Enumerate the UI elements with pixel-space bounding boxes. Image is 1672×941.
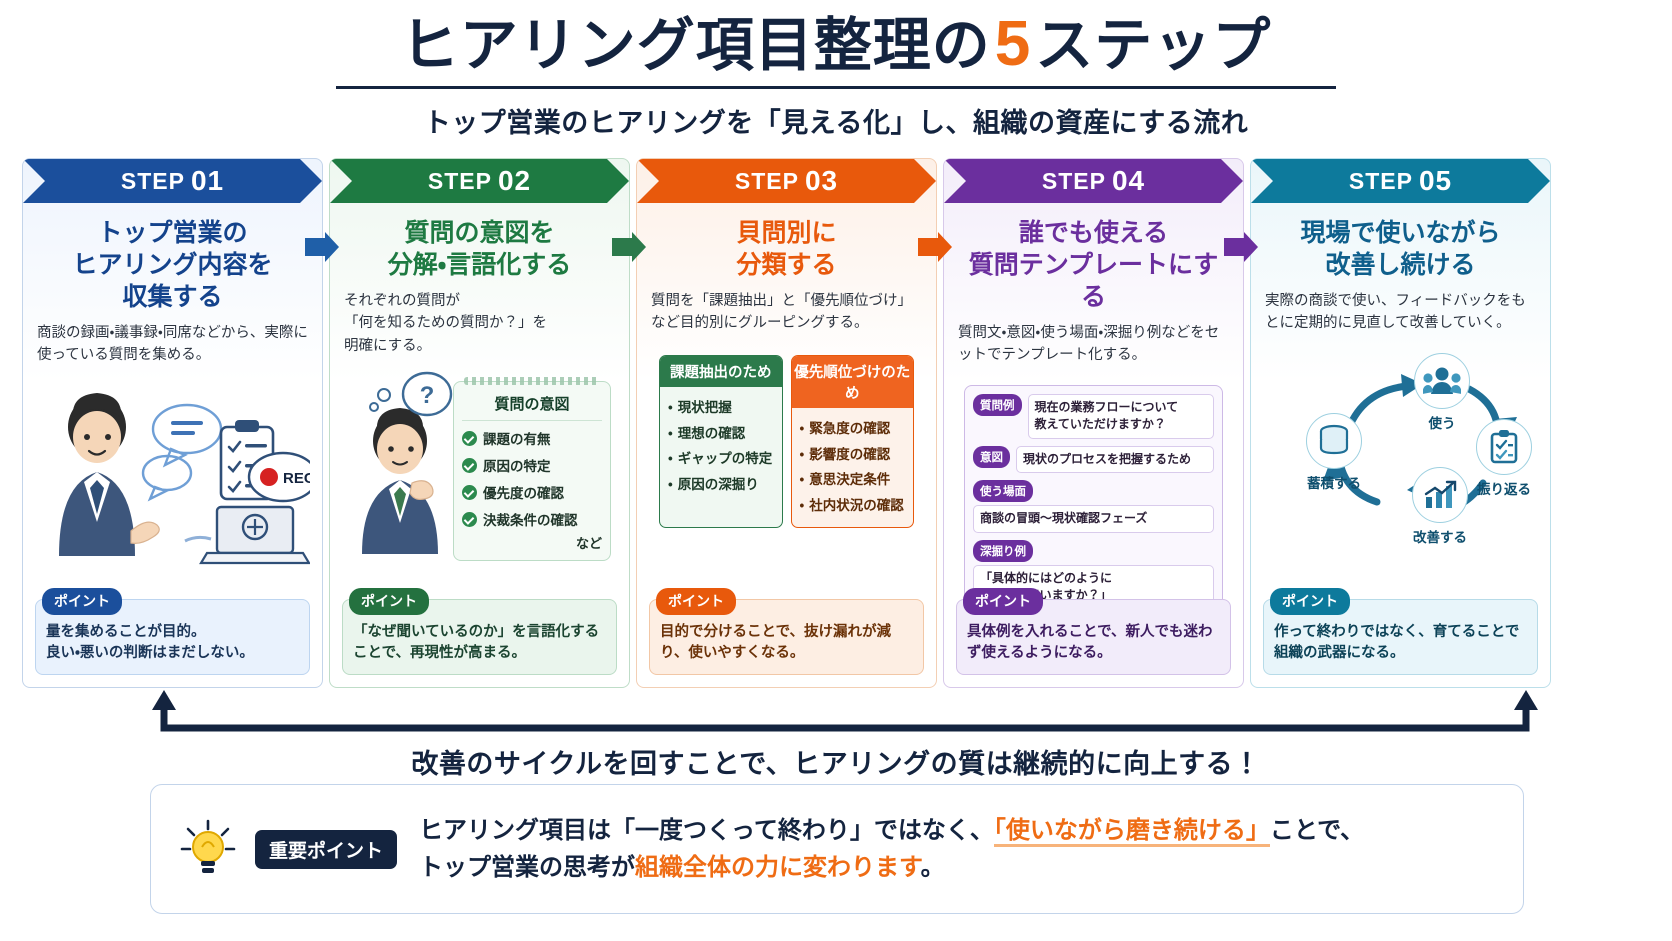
note-line2-highlight: 組織全体の力に変わります <box>635 854 921 881</box>
step-illustration-03: 課題抽出のため •現状把握 •理想の確認 •ギャップの特定 •原因の深掘り 優先… <box>651 341 922 599</box>
template-value: 現在の業務フローについて 教えていただけますか？ <box>1028 394 1215 439</box>
title-number: 5 <box>991 7 1036 79</box>
clipboard-check-icon <box>1476 419 1532 475</box>
group-item-label: ギャップの特定 <box>678 446 773 472</box>
step-card-05[interactable]: STEP05 現場で使いながら 改善し続ける 実際の商談で使い、フィードバックを… <box>1250 158 1551 688</box>
step-desc-02: それぞれの質問が 「何を知るための質問か？」を 明確にする。 <box>344 290 615 357</box>
checklist-item: 課題の有無 <box>462 428 602 448</box>
step-title-01: トップ営業の ヒアリング内容を 収集する <box>37 217 308 313</box>
ribbon-number: 02 <box>498 165 531 197</box>
step-ribbon-01: STEP01 <box>23 159 322 203</box>
checklist-label: 原因の特定 <box>483 455 551 475</box>
group-item-label: 意思決定条件 <box>809 467 890 493</box>
point-box-03: ポイント 目的で分けることで、抜け漏れが減り、使いやすくなる。 <box>649 599 924 676</box>
point-box-01: ポイント 量を集めることが目的。 良い・悪いの判断はまだしない。 <box>35 599 310 676</box>
step-title-03: 貝問別に 分類する <box>651 217 922 281</box>
feedback-loop-arrow <box>150 690 1540 742</box>
ribbon-label: STEP <box>428 168 492 195</box>
template-tag: 深掘り例 <box>973 540 1033 562</box>
question-intent-panel: 質問の意図 課題の有無 原因の特定 優先度の確認 決裁条件の確認 など <box>453 381 611 561</box>
connector-arrow-4-5 <box>1224 232 1258 262</box>
point-tag-05: ポイント <box>1270 588 1350 615</box>
point-box-04: ポイント 具体例を入れることで、新人でも迷わず使えるようになる。 <box>956 599 1231 676</box>
step-desc-04: 質問文・意図・使う場面・深掘り例などをセットでテンプレート化する。 <box>958 322 1229 367</box>
note-line2-b: 。 <box>921 854 945 881</box>
checklist-label: 決裁条件の確認 <box>483 509 578 529</box>
step-ribbon-02: STEP02 <box>330 159 629 203</box>
bullet-icon: • <box>800 416 805 442</box>
group-box-prioritization: 優先順位づけのため •緊急度の確認 •影響度の確認 •意思決定条件 •社内状況の… <box>791 355 915 528</box>
point-tag-04: ポイント <box>963 588 1043 615</box>
connector-arrow-3-4 <box>918 232 952 262</box>
record-dot-icon <box>260 468 278 486</box>
note-line1-highlight: 「使いながら磨き続ける」 <box>994 817 1270 847</box>
step-desc-01: 商談の録画・議事録・同席などから、実際に使っている質問を集める。 <box>37 322 308 367</box>
title-pre: ヒアリング項目整理の <box>401 13 991 78</box>
bullet-icon: • <box>668 446 673 472</box>
bullet-icon: • <box>800 467 805 493</box>
database-icon <box>1306 413 1362 469</box>
step-ribbon-05: STEP05 <box>1251 159 1550 203</box>
template-value: 現状のプロセスを把握するため <box>1016 446 1214 473</box>
template-row: 使う場面 商談の冒頭〜現状確認フェーズ <box>973 480 1214 532</box>
group-item-label: 現状把握 <box>678 395 732 421</box>
group-item: •社内状況の確認 <box>800 493 908 519</box>
group-header: 課題抽出のため <box>660 356 782 387</box>
loop-message: 改善のサイクルを回すことで、ヒアリングの質は継続的に向上する！ <box>0 742 1672 781</box>
title-post: ステップ <box>1035 13 1271 78</box>
question-mark: ? <box>420 382 435 409</box>
step-desc-03: 質問を「課題抽出」と「優先順位づけ」など目的別にグルーピングする。 <box>651 290 922 335</box>
check-icon <box>462 512 477 527</box>
group-item: •ギャップの特定 <box>668 446 776 472</box>
ribbon-number: 05 <box>1419 165 1452 197</box>
checklist-label: 課題の有無 <box>483 428 551 448</box>
ribbon-label: STEP <box>121 168 185 195</box>
checklist-item: 優先度の確認 <box>462 482 602 502</box>
template-row: 意図 現状のプロセスを把握するため <box>973 446 1214 473</box>
growth-chart-icon <box>1412 467 1468 523</box>
point-text-03: 目的で分けることで、抜け漏れが減り、使いやすくなる。 <box>660 622 913 666</box>
title-underline <box>336 86 1336 89</box>
steps-row: STEP01 トップ営業の ヒアリング内容を 収集する 商談の録画・議事録・同席… <box>22 158 1650 688</box>
note-line1-b: ことで、 <box>1270 817 1364 844</box>
check-icon <box>462 458 477 473</box>
panel-note-02: など <box>462 533 602 552</box>
cycle-node-improve: 改善する <box>1397 467 1483 546</box>
connector-arrow-2-3 <box>612 232 646 262</box>
cycle-node-accumulate: 蓄積する <box>1291 413 1377 492</box>
point-tag-01: ポイント <box>42 588 122 615</box>
group-item: •影響度の確認 <box>800 442 908 468</box>
point-box-05: ポイント 作って終わりではなく、育てることで組織の武器になる。 <box>1263 599 1538 676</box>
bullet-icon: • <box>668 421 673 447</box>
step-ribbon-04: STEP04 <box>944 159 1243 203</box>
note-line-1: ヒアリング項目は「一度つくって終わり」ではなく、「使いながら磨き続ける」ことで、 <box>419 812 1364 849</box>
group-item: •理想の確認 <box>668 421 776 447</box>
step-card-03[interactable]: STEP03 貝問別に 分類する 質問を「課題抽出」と「優先順位づけ」など目的別… <box>636 158 937 688</box>
template-tag: 質問例 <box>973 394 1022 416</box>
note-line1-a: ヒアリング項目は「一度つくって終わり」ではなく、 <box>419 817 994 844</box>
group-item-label: 社内状況の確認 <box>809 493 904 519</box>
checklist-item: 原因の特定 <box>462 455 602 475</box>
check-icon <box>462 485 477 500</box>
page-title: ヒアリング項目整理の5ステップ <box>401 8 1272 78</box>
check-icon <box>462 431 477 446</box>
note-text: ヒアリング項目は「一度つくって終わり」ではなく、「使いながら磨き続ける」ことで、… <box>419 812 1364 886</box>
group-item: •原因の深掘り <box>668 472 776 498</box>
step-title-05: 現場で使いながら 改善し続ける <box>1265 217 1536 281</box>
step-card-04[interactable]: STEP04 誰でも使える 質問テンプレートにする 質問文・意図・使う場面・深掘… <box>943 158 1244 688</box>
group-header: 優先順位づけのため <box>792 356 914 408</box>
group-item: •現状把握 <box>668 395 776 421</box>
bullet-icon: • <box>800 493 805 519</box>
thought-bubble-icon: ? <box>400 369 454 423</box>
notepad-clip-icon <box>464 377 600 385</box>
ribbon-label: STEP <box>1349 168 1413 195</box>
ribbon-number: 01 <box>191 165 224 197</box>
ribbon-label: STEP <box>1042 168 1106 195</box>
ribbon-number: 04 <box>1112 165 1145 197</box>
point-text-01: 量を集めることが目的。 良い・悪いの判断はまだしない。 <box>46 622 299 666</box>
note-tag: 重要ポイント <box>255 830 397 869</box>
step-illustration-01: REC <box>37 373 308 599</box>
checklist-item: 決裁条件の確認 <box>462 509 602 529</box>
panel-title-02: 質問の意図 <box>462 388 602 421</box>
lightbulb-icon <box>177 817 239 881</box>
cycle-label: 改善する <box>1397 526 1483 546</box>
group-item-label: 原因の深掘り <box>678 472 759 498</box>
step-illustration-05: 使う <box>1265 341 1536 599</box>
cycle-label: 蓄積する <box>1291 472 1377 492</box>
point-text-04: 具体例を入れることで、新人でも迷わず使えるようになる。 <box>967 622 1220 666</box>
template-tag: 使う場面 <box>973 480 1033 502</box>
step-title-02: 質問の意図を 分解・言語化する <box>344 217 615 281</box>
step-illustration-04: 質問例 現在の業務フローについて 教えていただけますか？ 意図 現状のプロセスを… <box>958 373 1229 599</box>
bullet-icon: • <box>668 395 673 421</box>
template-tag: 意図 <box>973 446 1010 468</box>
note-line2-a: トップ営業の思考が <box>419 854 635 881</box>
ribbon-label: STEP <box>735 168 799 195</box>
step-card-02[interactable]: STEP02 質問の意図を 分解・言語化する それぞれの質問が 「何を知るための… <box>329 158 630 688</box>
connector-arrow-1-2 <box>305 232 339 262</box>
point-text-05: 作って終わりではなく、育てることで組織の武器になる。 <box>1274 622 1527 666</box>
point-text-02: 「なぜ聞いているのか」を言語化することで、再現性が高まる。 <box>353 622 606 666</box>
bullet-icon: • <box>800 442 805 468</box>
step-card-01[interactable]: STEP01 トップ営業の ヒアリング内容を 収集する 商談の録画・議事録・同席… <box>22 158 323 688</box>
ribbon-number: 03 <box>805 165 838 197</box>
people-icon <box>1414 353 1470 409</box>
rec-label: REC <box>283 470 310 487</box>
checklist-label: 優先度の確認 <box>483 482 564 502</box>
note-line-2: トップ営業の思考が組織全体の力に変わります。 <box>419 849 1364 886</box>
group-item-label: 影響度の確認 <box>809 442 890 468</box>
step-illustration-02: ? 質問の意図 課題の有無 原因の特定 優先度の確認 決裁条件の確認 など <box>344 363 615 598</box>
point-tag-02: ポイント <box>349 588 429 615</box>
page-subtitle: トップ営業のヒアリングを「見える化」し、組織の資産にする流れ <box>0 101 1672 140</box>
point-tag-03: ポイント <box>656 588 736 615</box>
bullet-icon: • <box>668 472 673 498</box>
group-item-label: 緊急度の確認 <box>809 416 890 442</box>
step-title-04: 誰でも使える 質問テンプレートにする <box>958 217 1229 313</box>
group-box-issue-extraction: 課題抽出のため •現状把握 •理想の確認 •ギャップの特定 •原因の深掘り <box>659 355 783 528</box>
point-box-02: ポイント 「なぜ聞いているのか」を言語化することで、再現性が高まる。 <box>342 599 617 676</box>
step-ribbon-03: STEP03 <box>637 159 936 203</box>
improvement-cycle: 使う <box>1265 347 1536 537</box>
step-desc-05: 実際の商談で使い、フィードバックをもとに定期的に見直して改善していく。 <box>1265 290 1536 335</box>
group-item: •意思決定条件 <box>800 467 908 493</box>
group-item-label: 理想の確認 <box>678 421 746 447</box>
important-note-box: 重要ポイント ヒアリング項目は「一度つくって終わり」ではなく、「使いながら磨き続… <box>150 784 1524 914</box>
template-row: 質問例 現在の業務フローについて 教えていただけますか？ <box>973 394 1214 439</box>
group-item: •緊急度の確認 <box>800 416 908 442</box>
template-value: 商談の冒頭〜現状確認フェーズ <box>973 505 1214 532</box>
infographic-page: ヒアリング項目整理の5ステップ トップ営業のヒアリングを「見える化」し、組織の資… <box>0 0 1672 941</box>
header: ヒアリング項目整理の5ステップ トップ営業のヒアリングを「見える化」し、組織の資… <box>0 0 1672 140</box>
